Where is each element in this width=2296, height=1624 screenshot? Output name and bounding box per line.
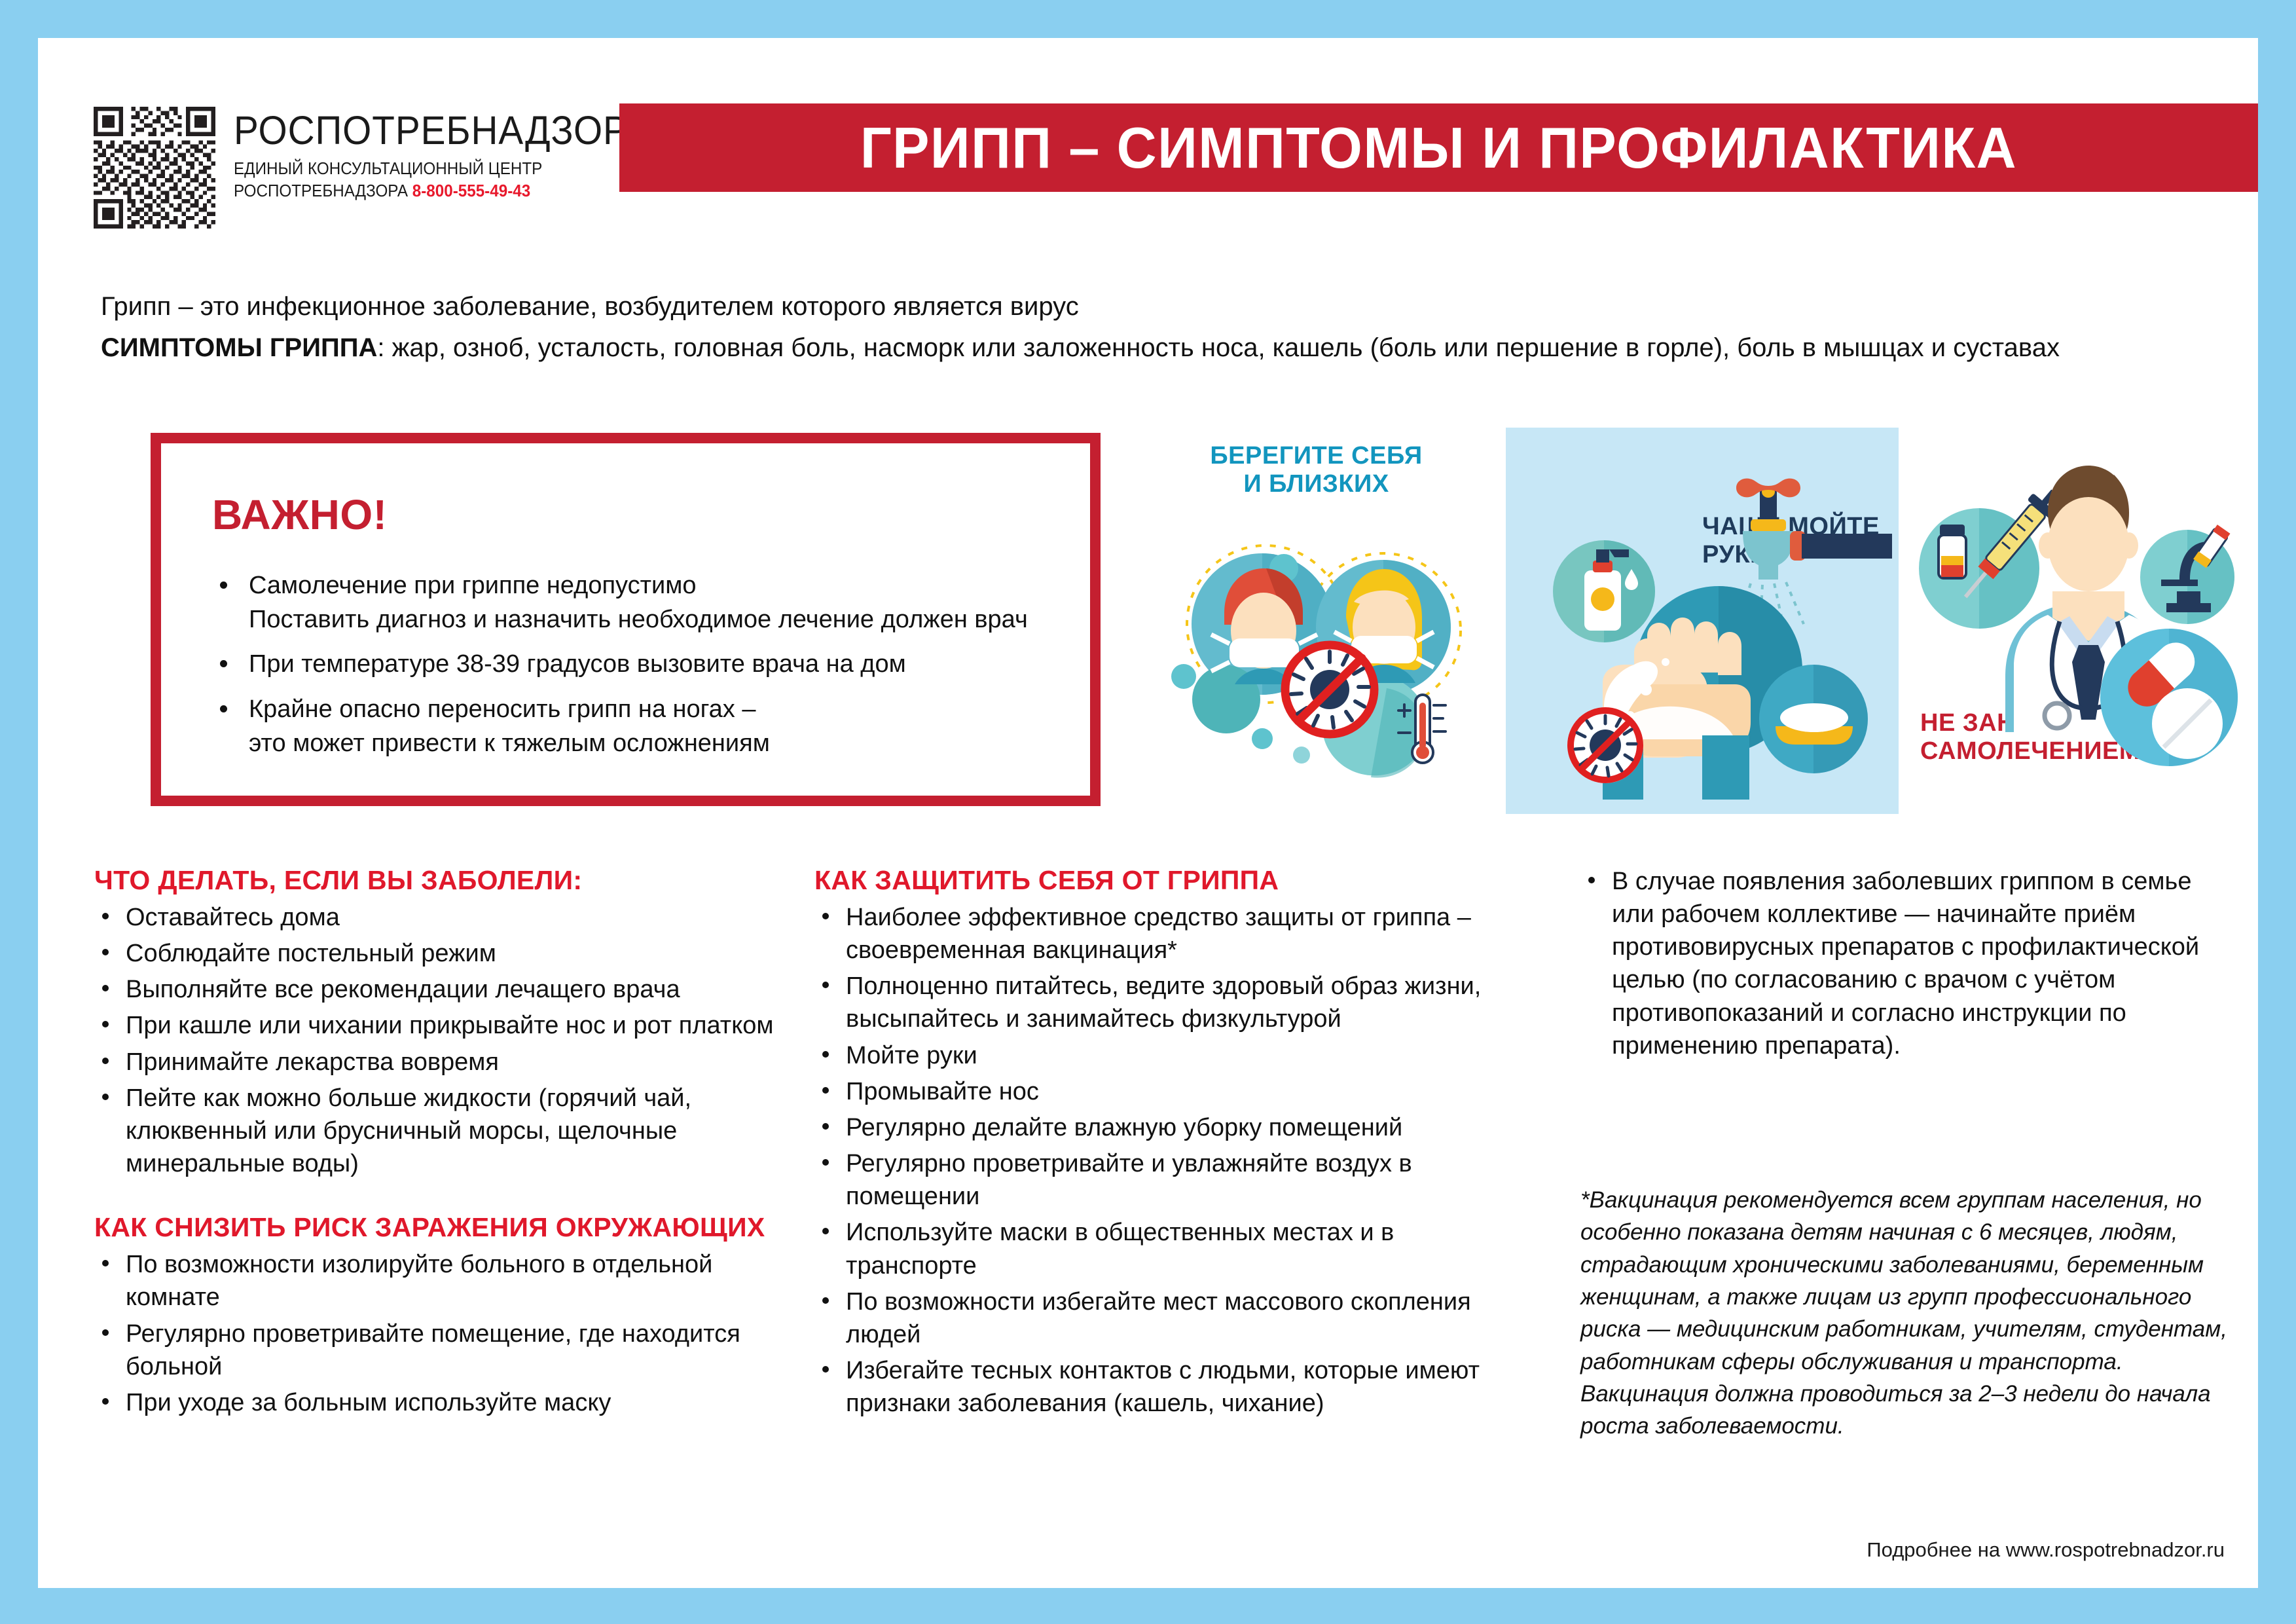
list-item: Регулярно проветривайте и увлажняйте воз… bbox=[814, 1147, 1508, 1213]
section-spacer bbox=[94, 1183, 801, 1212]
more-info-link[interactable]: Подробнее на www.rospotrebnadzor.ru bbox=[1609, 1538, 2225, 1562]
how-to-protect-list: Наиболее эффективное средство защиты от … bbox=[814, 901, 1508, 1420]
vaccine-vial-icon bbox=[1939, 525, 1966, 578]
logo-title: РОСПОТРЕБНАДЗОР bbox=[234, 111, 629, 151]
vaccination-footnote: *Вакцинация рекомендуется всем группам н… bbox=[1580, 1184, 2229, 1443]
prophylaxis-list: В случае появления заболевших гриппом в … bbox=[1580, 865, 2229, 1062]
intro-line-2: СИМПТОМЫ ГРИППА: жар, озноб, усталость, … bbox=[101, 329, 2209, 367]
illustration-wash-hands: ЧАЩЕ МОЙТЕ РУКИ bbox=[1506, 428, 1899, 814]
poster-header: РОСПОТРЕБНАДЗОР ЕДИНЫЙ КОНСУЛЬТАЦИОННЫЙ … bbox=[38, 38, 2258, 202]
symptoms-label: СИМПТОМЫ ГРИППА bbox=[101, 333, 377, 362]
list-item: Наиболее эффективное средство защиты от … bbox=[814, 901, 1508, 967]
list-item: Принимайте лекарства вовремя bbox=[94, 1046, 801, 1079]
logo-subtitle-org: РОСПОТРЕБНАДЗОРА bbox=[234, 182, 408, 200]
masked-people-virus-illustration bbox=[1138, 428, 1495, 814]
list-item: Используйте маски в общественных местах … bbox=[814, 1216, 1508, 1282]
poster-page: РОСПОТРЕБНАДЗОР ЕДИНЫЙ КОНСУЛЬТАЦИОННЫЙ … bbox=[38, 38, 2258, 1588]
symptoms-list: : жар, озноб, усталость, головная боль, … bbox=[377, 333, 2060, 362]
handwashing-faucet-illustration bbox=[1506, 428, 1899, 814]
doctor-medicine-illustration bbox=[1907, 428, 2274, 814]
illustration-see-doctor: НЕ ЗАНИМАЙТЕСЬ САМОЛЕЧЕНИЕМ! bbox=[1907, 428, 2274, 814]
rospotrebnadzor-logo-block: РОСПОТРЕБНАДЗОР ЕДИНЫЙ КОНСУЛЬТАЦИОННЫЙ … bbox=[94, 107, 658, 229]
list-item: Крайне опасно переносить грипп на ногах … bbox=[208, 693, 1064, 760]
logo-subtitle-line2: РОСПОТРЕБНАДЗОРА 8-800-555-49-43 bbox=[234, 181, 637, 203]
list-item: Выполняйте все рекомендации лечащего вра… bbox=[94, 973, 801, 1006]
qr-code-icon bbox=[94, 107, 215, 229]
list-item: Мойте руки bbox=[814, 1039, 1508, 1072]
list-item: Регулярно делайте влажную уборку помещен… bbox=[814, 1111, 1508, 1144]
section-title-reduce-risk: КАК СНИЗИТЬ РИСК ЗАРАЖЕНИЯ ОКРУЖАЮЩИХ bbox=[94, 1212, 801, 1243]
intro-line-1: Грипп – это инфекционное заболевание, во… bbox=[101, 288, 2209, 325]
no-virus-icon bbox=[1567, 707, 1643, 783]
list-item: Промывайте нос bbox=[814, 1075, 1508, 1108]
important-box: ВАЖНО! Самолечение при гриппе недопустим… bbox=[151, 433, 1101, 806]
list-item: Пейте как можно больше жидкости (горячий… bbox=[94, 1082, 801, 1180]
page-title: ГРИПП – СИМПТОМЫ И ПРОФИЛАКТИКА bbox=[860, 115, 2017, 181]
soap-bar-icon bbox=[1776, 703, 1853, 745]
logo-subtitle-line1: ЕДИНЫЙ КОНСУЛЬТАЦИОННЫЙ ЦЕНТР bbox=[234, 158, 637, 181]
illustration-strip: БЕРЕГИТЕ СЕБЯ И БЛИЗКИХ bbox=[1138, 428, 2277, 814]
what-to-do-list: Оставайтесь дома Соблюдайте постельный р… bbox=[94, 901, 801, 1180]
list-item: Избегайте тесных контактов с людьми, кот… bbox=[814, 1354, 1508, 1420]
column-prophylaxis: В случае появления заболевших гриппом в … bbox=[1580, 865, 2229, 1443]
column-how-to-protect: КАК ЗАЩИТИТЬ СЕБЯ ОТ ГРИППА Наиболее эфф… bbox=[814, 865, 1508, 1423]
list-item: Регулярно проветривайте помещение, где н… bbox=[94, 1318, 801, 1383]
content-columns: ЧТО ДЕЛАТЬ, ЕСЛИ ВЫ ЗАБОЛЕЛИ: Оставайтес… bbox=[94, 865, 2222, 1533]
important-title: ВАЖНО! bbox=[212, 490, 387, 539]
intro-text: Грипп – это инфекционное заболевание, во… bbox=[101, 288, 2209, 367]
list-item: Соблюдайте постельный режим bbox=[94, 937, 801, 970]
reduce-risk-list: По возможности изолируйте больного в отд… bbox=[94, 1248, 801, 1419]
list-item: Полноценно питайтесь, ведите здоровый об… bbox=[814, 970, 1508, 1035]
section-title-how-to-protect: КАК ЗАЩИТИТЬ СЕБЯ ОТ ГРИППА bbox=[814, 865, 1508, 896]
logo-subtitle: ЕДИНЫЙ КОНСУЛЬТАЦИОННЫЙ ЦЕНТР РОСПОТРЕБН… bbox=[234, 158, 637, 203]
list-item: При уходе за больным используйте маску bbox=[94, 1386, 801, 1419]
list-item: При температуре 38-39 градусов вызовите … bbox=[208, 648, 1064, 682]
list-item: При кашле или чихании прикрывайте нос и … bbox=[94, 1009, 801, 1042]
illustration-protect-yourself: БЕРЕГИТЕ СЕБЯ И БЛИЗКИХ bbox=[1138, 428, 1495, 814]
section-title-what-to-do: ЧТО ДЕЛАТЬ, ЕСЛИ ВЫ ЗАБОЛЕЛИ: bbox=[94, 865, 801, 896]
list-item: Самолечение при гриппе недопустимо Поста… bbox=[208, 569, 1064, 637]
list-item: В случае появления заболевших гриппом в … bbox=[1580, 865, 2229, 1062]
list-item: По возможности изолируйте больного в отд… bbox=[94, 1248, 801, 1314]
column-what-to-do: ЧТО ДЕЛАТЬ, ЕСЛИ ВЫ ЗАБОЛЕЛИ: Оставайтес… bbox=[94, 865, 801, 1422]
hotline-phone: 8-800-555-49-43 bbox=[412, 182, 530, 200]
list-item: Оставайтесь дома bbox=[94, 901, 801, 934]
list-item: По возможности избегайте мест массового … bbox=[814, 1285, 1508, 1351]
important-list: Самолечение при гриппе недопустимо Поста… bbox=[208, 569, 1064, 771]
title-banner: ГРИПП – СИМПТОМЫ И ПРОФИЛАКТИКА bbox=[619, 103, 2258, 192]
